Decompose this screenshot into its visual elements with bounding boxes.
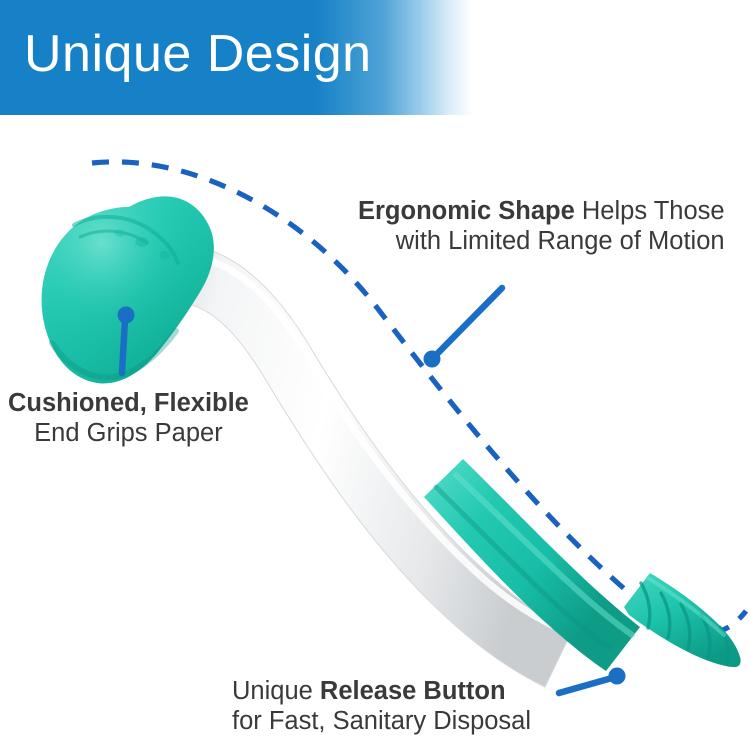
head-dimple-2 xyxy=(160,251,171,259)
callout-cushioned-line2: End Grips Paper xyxy=(8,418,249,448)
callout-ergonomic-line2: with Limited Range of Motion xyxy=(358,226,725,256)
callout-release-line2: for Fast, Sanitary Disposal xyxy=(232,706,531,736)
leader-line-ergonomic xyxy=(424,288,503,368)
head-dimple-1 xyxy=(136,237,149,247)
page-title: Unique Design xyxy=(24,28,372,80)
callout-ergonomic-regular: Helps Those xyxy=(575,197,725,225)
callout-cushioned-bold: Cushioned, Flexible xyxy=(8,388,249,418)
head-dimple-3 xyxy=(115,229,125,237)
white-curved-shaft xyxy=(150,243,572,687)
callout-ergonomic-bold: Ergonomic Shape xyxy=(358,197,575,225)
cushioned-gripping-head xyxy=(42,196,214,383)
leader-dot-cushioned xyxy=(118,307,135,324)
callout-release-regular-pre: Unique xyxy=(232,677,320,705)
callout-cushioned-flexible: Cushioned, Flexible End Grips Paper xyxy=(8,388,249,448)
leader-dot-release xyxy=(609,668,626,685)
callout-release-button: Unique Release Button for Fast, Sanitary… xyxy=(232,676,531,736)
leader-dot-ergonomic xyxy=(424,351,441,368)
ribbed-release-end xyxy=(624,573,741,667)
leader-line-release xyxy=(559,668,626,694)
callout-ergonomic-shape: Ergonomic Shape Helps Those with Limited… xyxy=(358,196,725,256)
callout-release-bold: Release Button xyxy=(320,677,506,705)
infographic-page: Unique Design xyxy=(0,0,750,750)
